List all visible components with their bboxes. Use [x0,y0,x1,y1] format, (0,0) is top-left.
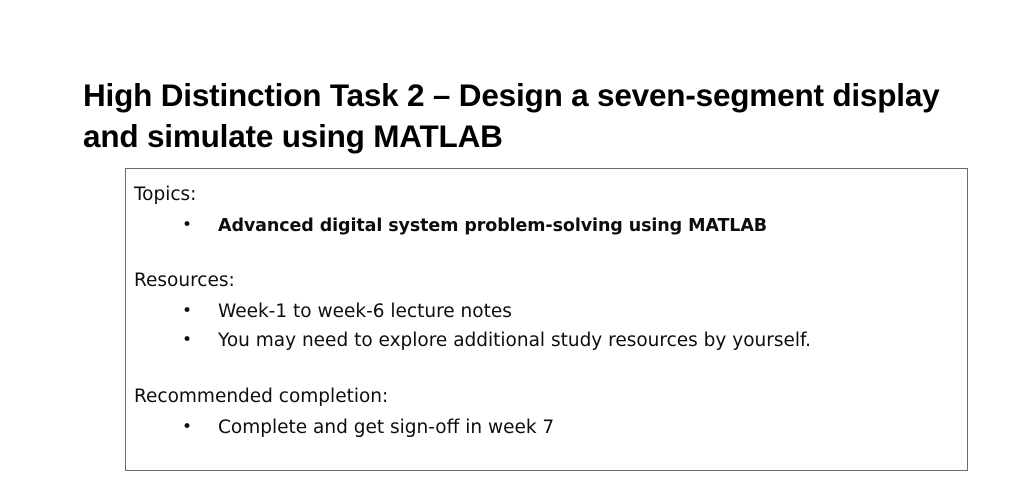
section-recommended-completion: Recommended completion: • Complete and g… [134,385,959,442]
bullet-icon: • [181,413,193,442]
list-item: • Week-1 to week-6 lecture notes [134,297,959,326]
list-item-label: Week-1 to week-6 lecture notes [218,301,512,322]
bullet-list-topics: • Advanced digital system problem-solvin… [134,211,959,241]
content-box-inner: Topics: • Advanced digital system proble… [134,177,959,464]
section-heading-resources: Resources: [134,269,959,293]
bullet-icon: • [181,211,193,240]
list-item: • Complete and get sign-off in week 7 [134,413,959,442]
bullet-icon: • [181,326,193,355]
slide-canvas: High Distinction Task 2 – Design a seven… [0,0,1034,497]
bullet-list-resources: • Week-1 to week-6 lecture notes • You m… [134,297,959,355]
page-title: High Distinction Task 2 – Design a seven… [83,75,998,157]
list-item-label: Complete and get sign-off in week 7 [218,417,554,438]
list-item-label: Advanced digital system problem-solving … [218,216,767,236]
list-item: • Advanced digital system problem-solvin… [134,211,959,241]
list-item-label: You may need to explore additional study… [218,330,811,351]
content-box: Topics: • Advanced digital system proble… [125,168,968,471]
section-heading-topics: Topics: [134,183,959,207]
bullet-list-recommended-completion: • Complete and get sign-off in week 7 [134,413,959,442]
section-resources: Resources: • Week-1 to week-6 lecture no… [134,269,959,355]
section-heading-recommended-completion: Recommended completion: [134,385,959,409]
list-item: • You may need to explore additional stu… [134,326,959,355]
section-topics: Topics: • Advanced digital system proble… [134,183,959,241]
bullet-icon: • [181,297,193,326]
